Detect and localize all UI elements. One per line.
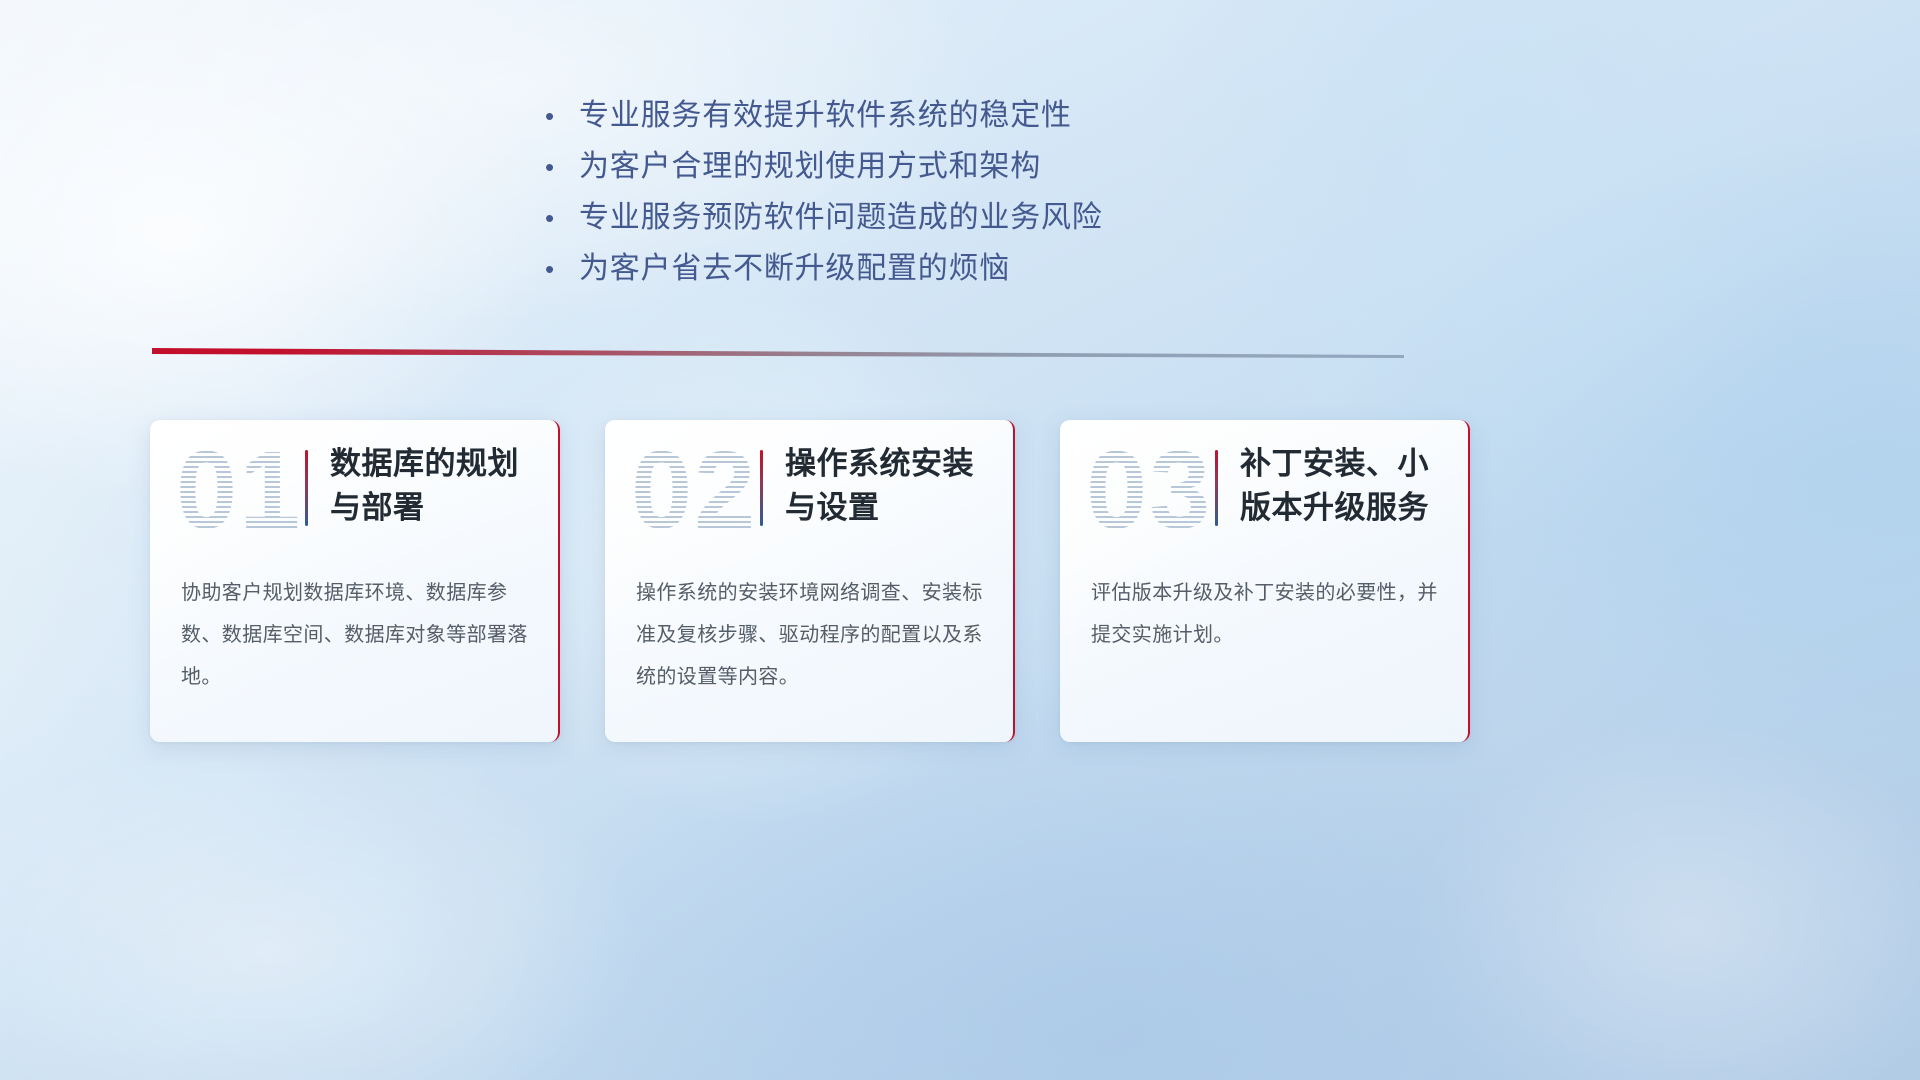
heading-line-1: 数据库的规划 — [330, 442, 519, 486]
heading-line-1: 操作系统安装 — [785, 442, 974, 486]
bullet-dot-icon: • — [545, 245, 579, 293]
card-description: 操作系统的安装环境网络调查、安装标准及复核步骤、驱动程序的配置以及系统的设置等内… — [636, 572, 987, 698]
heading-accent-bar — [1215, 450, 1218, 526]
list-item: • 为客户省去不断升级配置的烦恼 — [545, 245, 1103, 296]
heading-line-2: 与设置 — [785, 486, 974, 530]
bullet-dot-icon: • — [545, 92, 579, 140]
service-card[interactable]: 02 操作系统安装 与设置 操作系统的安装环境网络调查、安装标准及复核步骤、驱动… — [605, 420, 1015, 742]
card-number-watermark: 01 — [176, 436, 302, 546]
card-description: 协助客户规划数据库环境、数据库参数、数据库空间、数据库对象等部署落地。 — [181, 572, 532, 698]
heading-accent-bar — [305, 450, 308, 526]
card-heading: 操作系统安装 与设置 — [760, 442, 1000, 530]
bullet-text: 专业服务预防软件问题造成的业务风险 — [579, 194, 1103, 242]
heading-line-2: 与部署 — [330, 486, 519, 530]
service-card-group: 01 数据库的规划 与部署 协助客户规划数据库环境、数据库参数、数据库空间、数据… — [150, 420, 1470, 745]
heading-line-2: 版本升级服务 — [1240, 486, 1429, 530]
list-item: • 专业服务有效提升软件系统的稳定性 — [545, 92, 1103, 143]
heading-text: 操作系统安装 与设置 — [785, 442, 974, 530]
card-number-watermark: 02 — [631, 436, 757, 546]
bullet-dot-icon: • — [545, 194, 579, 242]
bullet-text: 为客户省去不断升级配置的烦恼 — [579, 245, 1010, 293]
slide-canvas: • 专业服务有效提升软件系统的稳定性 • 为客户合理的规划使用方式和架构 • 专… — [0, 0, 1920, 1080]
card-heading: 数据库的规划 与部署 — [305, 442, 545, 530]
service-card[interactable]: 01 数据库的规划 与部署 协助客户规划数据库环境、数据库参数、数据库空间、数据… — [150, 420, 560, 742]
heading-line-1: 补丁安装、小 — [1240, 442, 1429, 486]
heading-text: 数据库的规划 与部署 — [330, 442, 519, 530]
card-number-watermark: 03 — [1086, 436, 1212, 546]
benefits-bullet-list: • 专业服务有效提升软件系统的稳定性 • 为客户合理的规划使用方式和架构 • 专… — [545, 92, 1103, 296]
bullet-dot-icon: • — [545, 143, 579, 191]
heading-accent-bar — [760, 450, 763, 526]
service-card[interactable]: 03 补丁安装、小 版本升级服务 评估版本升级及补丁安装的必要性，并提交实施计划… — [1060, 420, 1470, 742]
list-item: • 专业服务预防软件问题造成的业务风险 — [545, 194, 1103, 245]
bullet-text: 专业服务有效提升软件系统的稳定性 — [579, 92, 1072, 140]
section-divider — [152, 346, 1404, 362]
card-description: 评估版本升级及补丁安装的必要性，并提交实施计划。 — [1091, 572, 1442, 656]
bullet-text: 为客户合理的规划使用方式和架构 — [579, 143, 1041, 191]
card-heading: 补丁安装、小 版本升级服务 — [1215, 442, 1455, 530]
list-item: • 为客户合理的规划使用方式和架构 — [545, 143, 1103, 194]
heading-text: 补丁安装、小 版本升级服务 — [1240, 442, 1429, 530]
